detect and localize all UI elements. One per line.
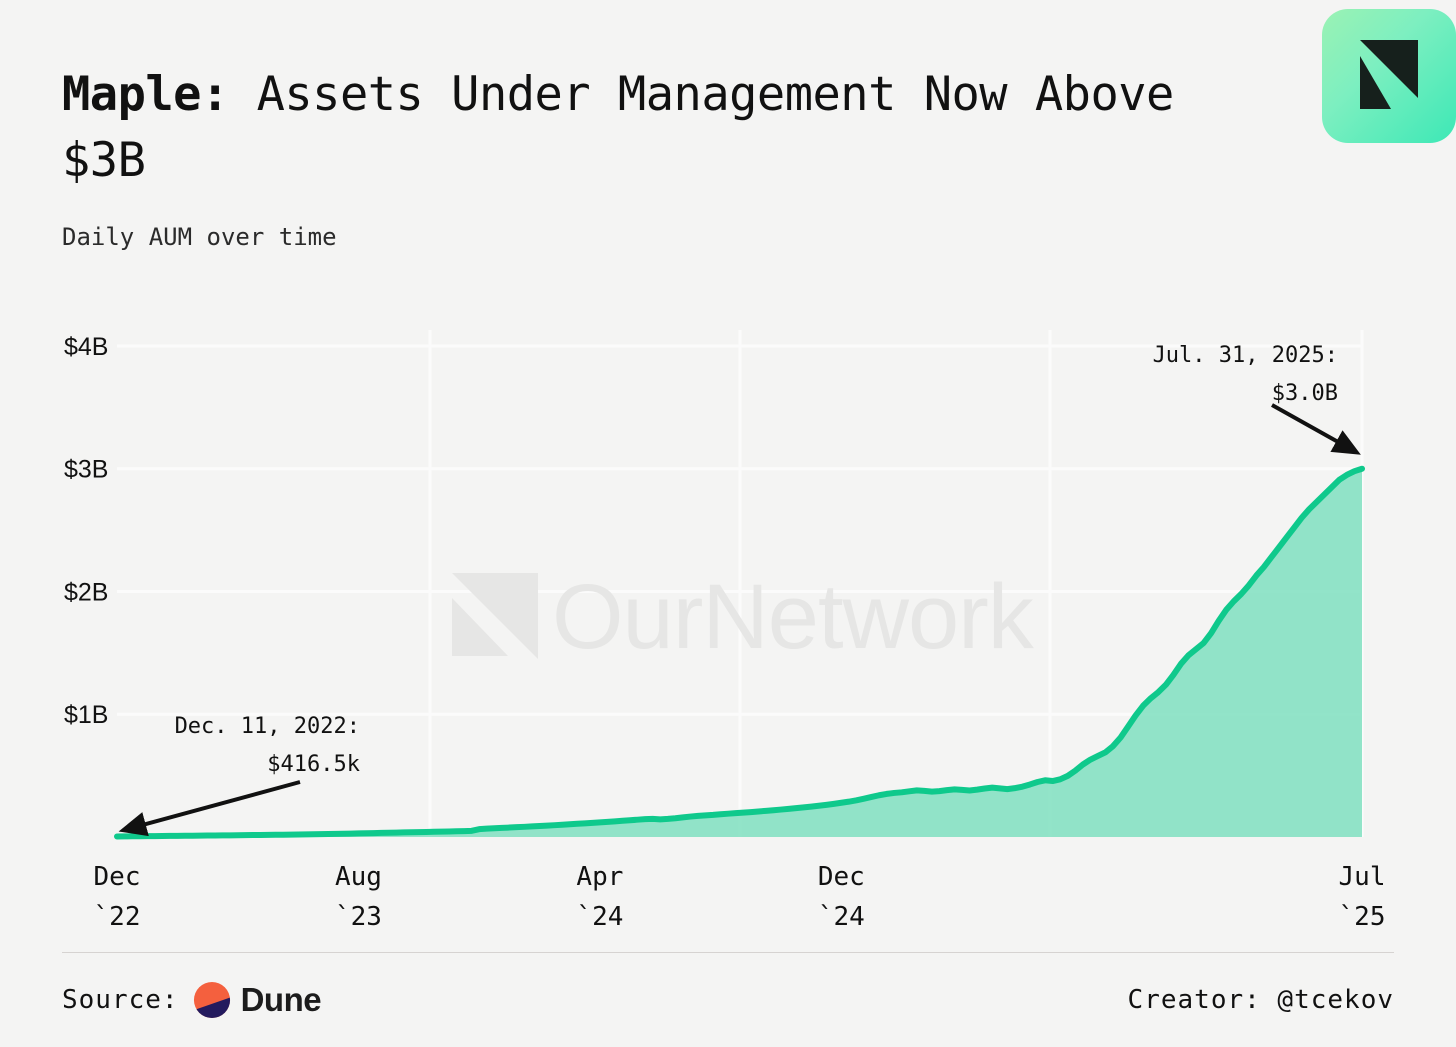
x-axis-tick-month: Jul [1339, 862, 1386, 892]
chart-annotations: Dec. 11, 2022:$416.5kJul. 31, 2025:$3.0B [124, 343, 1356, 830]
creator-label: Creator: @tcekov [1128, 985, 1394, 1015]
chart-gridlines [117, 330, 1362, 837]
end-annotation-arrow-icon [1272, 405, 1356, 452]
footer-divider [62, 952, 1394, 953]
x-axis-tick-year: `23 [335, 902, 382, 932]
chart-area-series [117, 469, 1362, 837]
x-axis-tick-year: `25 [1339, 902, 1386, 932]
chart-page: Maple: Assets Under Management Now Above… [0, 0, 1456, 1047]
x-axis-tick-year: `24 [576, 902, 623, 932]
start-annotation-line2: $416.5k [267, 752, 360, 777]
y-axis-ticks: $4B$3B$2B$1B [64, 333, 108, 729]
x-axis-tick-month: Apr [576, 862, 623, 892]
x-axis-tick-month: Dec [818, 862, 865, 892]
header: Maple: Assets Under Management Now Above… [62, 62, 1394, 252]
dune-logo: Dune [193, 981, 322, 1019]
y-axis-tick-label: $2B [64, 578, 108, 606]
ournetwork-logo-icon [1322, 9, 1456, 143]
end-annotation-line1: Jul. 31, 2025: [1153, 343, 1338, 368]
page-title: Maple: Assets Under Management Now Above… [62, 62, 1192, 194]
x-axis-ticks: Dec`22Aug`23Apr`24Dec`24Jul`25 [94, 862, 1386, 932]
x-axis-tick-month: Dec [94, 862, 141, 892]
source-label: Source: [62, 985, 179, 1015]
page-subtitle: Daily AUM over time [62, 222, 1394, 252]
x-axis-tick-year: `24 [818, 902, 865, 932]
y-axis-tick-label: $3B [64, 456, 108, 484]
y-axis-tick-label: $1B [64, 701, 108, 729]
watermark: OurNetwork [452, 566, 1035, 668]
end-annotation-line2: $3.0B [1272, 381, 1338, 406]
y-axis-tick-label: $4B [64, 333, 108, 361]
title-brand: Maple: [62, 67, 229, 122]
dune-wordmark: Dune [241, 981, 322, 1019]
source-block: Source: Dune [62, 981, 321, 1019]
title-rest: Assets Under Management Now Above $3B [62, 67, 1202, 188]
x-axis-tick-year: `22 [94, 902, 141, 932]
footer: Source: Dune Creator: @tcekov [62, 975, 1394, 1025]
x-axis-tick-month: Aug [335, 862, 382, 892]
dune-circle-icon [193, 981, 231, 1019]
start-annotation-arrow-icon [124, 782, 300, 830]
watermark-text: OurNetwork [552, 566, 1035, 668]
start-annotation-line1: Dec. 11, 2022: [175, 714, 360, 739]
